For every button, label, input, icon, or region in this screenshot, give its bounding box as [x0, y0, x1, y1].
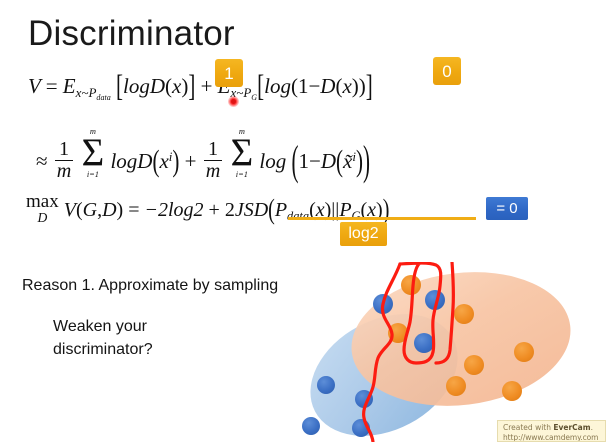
eq1-equals: =: [46, 74, 58, 98]
eq1-bracket2-close: ]: [366, 68, 373, 104]
eq2-frac-1-over-m: 1 m: [55, 139, 74, 180]
eq3-equals: =: [128, 199, 139, 221]
annotation-badge-equals-zero: = 0: [486, 197, 528, 220]
eq3-paren2-open: (: [268, 194, 275, 227]
watermark-suffix: .: [591, 423, 593, 432]
jsd-underline-annotation: [288, 217, 476, 220]
eq1-x2: x: [342, 74, 351, 98]
eq1-paren-close: ): [181, 74, 188, 98]
equation-line-1: V = Ex~Pdata [logD(x)] + Ex~PG[log(1−D(x…: [28, 74, 373, 102]
weaken-line-2: discriminator?: [53, 338, 153, 361]
eq3-G: G: [83, 199, 97, 221]
eq1-expectation-data: Ex~Pdata: [63, 74, 111, 98]
eq3-max-label: max: [26, 192, 59, 211]
eq2-summation-1: m Σ i=1: [82, 128, 105, 179]
reason-text: Reason 1. Approximate by sampling: [22, 277, 278, 295]
eq2-x-tilde: x̃: [343, 149, 352, 173]
red-pen-pointer-icon: [228, 96, 239, 107]
eq3-plus: +: [209, 199, 220, 221]
eq3-JSD: JSD: [235, 199, 268, 221]
eq1-E1-sub: x~Pdata: [76, 85, 111, 102]
eq3-max-subscript: D: [26, 211, 59, 225]
eq2-outer-paren-open: (: [292, 137, 299, 187]
page-title: Discriminator: [28, 16, 235, 53]
eq3-max-operator: max D: [26, 192, 59, 225]
eq1-paren-open: (: [165, 74, 172, 98]
eq3-paren-close: ): [117, 199, 124, 221]
annotation-badge-zero: 0: [433, 57, 461, 85]
eq2-sum2-sigma: Σ: [231, 136, 254, 170]
watermark-brand: EverCam: [553, 423, 590, 432]
eq2-x: x: [159, 149, 168, 173]
weaken-line-1: Weaken your: [53, 315, 153, 338]
eq1-bracket2-open: [: [257, 68, 264, 104]
eq1-paren2-close: ): [359, 74, 366, 98]
watermark-prefix: Created with: [503, 423, 553, 432]
eq1-D: D: [320, 74, 335, 98]
eq3-D: D: [102, 199, 116, 221]
eq2-summation-2: m Σ i=1: [231, 128, 254, 179]
eq2-frac2-1-over-m: 1 m: [204, 139, 223, 180]
equation-line-2: ≈ 1 m m Σ i=1 logD(xi) + 1 m m Σ i=1 log…: [36, 128, 370, 181]
eq1-paren3-close: ): [352, 74, 359, 98]
evercam-watermark: Created with EverCam. http://www.camdemy…: [497, 420, 606, 442]
weaken-discriminator-text: Weaken your discriminator?: [53, 315, 153, 361]
eq3-P1: P: [275, 199, 287, 221]
eq2-frac2-den: m: [204, 160, 223, 181]
eq2-paren-close: ): [172, 144, 179, 180]
eq2-sum1-sigma: Σ: [82, 136, 105, 170]
eq1-E1-sub-data: data: [96, 93, 110, 102]
eq1-log: log: [264, 74, 291, 98]
eq3-minus-2log2: −2log2: [144, 199, 203, 221]
eq2-frac2-num: 1: [204, 139, 223, 159]
eq3-paren-open: (: [76, 199, 83, 221]
eq2-inner-paren-open: (: [336, 144, 343, 180]
eq2-minus: −: [309, 149, 321, 173]
eq1-bracket-close: ]: [188, 68, 195, 104]
eq1-logD: logD: [123, 74, 165, 98]
eq2-frac-num: 1: [55, 139, 74, 159]
eq2-one: 1: [299, 149, 310, 173]
annotation-badge-log2: log2: [340, 222, 387, 246]
eq2-D: D: [321, 149, 336, 173]
eq2-logD: logD: [110, 149, 152, 173]
distribution-venn-diagram: [296, 262, 606, 442]
eq3-V: V: [64, 199, 76, 221]
eq2-approx: ≈: [36, 149, 48, 173]
eq2-log: log: [259, 149, 286, 173]
watermark-url: http://www.camdemy.com: [503, 433, 601, 442]
annotation-badge-one: 1: [215, 59, 243, 87]
eq1-one: 1: [298, 74, 309, 98]
eq2-frac-den: m: [55, 160, 74, 181]
equation-line-3: max D V(G,D) = −2log2 + 2JSD(Pdata(x)||P…: [26, 192, 389, 225]
watermark-line-1: Created with EverCam.: [503, 423, 601, 433]
eq1-paren2-open: (: [291, 74, 298, 98]
eq1-E1-sub-xp: x~P: [76, 85, 97, 100]
eq1-minus: −: [308, 74, 320, 98]
eq1-plus: +: [201, 74, 213, 98]
eq2-inner-paren-close: ): [356, 144, 363, 180]
eq1-x: x: [172, 74, 181, 98]
eq1-V: V: [28, 74, 40, 98]
eq1-E1: E: [63, 74, 76, 98]
eq1-bracket-open: [: [116, 68, 123, 104]
eq2-outer-paren-close: ): [363, 137, 370, 187]
eq3-two: 2: [225, 199, 235, 221]
eq2-plus: +: [185, 149, 197, 173]
eq2-paren-open: (: [152, 144, 159, 180]
